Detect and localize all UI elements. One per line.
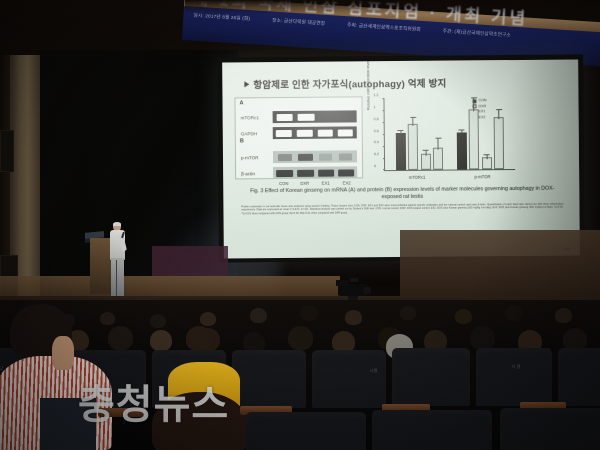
audience-head [108, 326, 133, 350]
seat [558, 348, 600, 406]
seat [392, 348, 470, 406]
blot-lane-labels: CON DXR EX1 EX2 [273, 180, 357, 186]
bar-ex2 [494, 117, 504, 169]
bar-con [396, 133, 406, 170]
slide-title: 항암제로 인한 자가포식(autophagy) 억제 방지 [253, 76, 446, 92]
y-tick: 0.6 [374, 129, 379, 133]
seat: 다 열 [476, 348, 552, 406]
audience-head [150, 314, 166, 328]
bar-group-pmtor [456, 98, 504, 169]
camera-microphone-icon [350, 278, 358, 282]
bar-chart: Relative mRNA/protein level CON DXR EX1 … [366, 95, 517, 182]
panel-a-label: A [239, 100, 243, 106]
x-category-mtorc1: mTORc1 [409, 175, 426, 180]
blot-row: β-actin [241, 164, 358, 181]
audience-head [455, 309, 472, 324]
panel-b-label: B [240, 138, 244, 144]
blot-row: mTORc1 [241, 108, 358, 125]
news-watermark: 충청뉴스 [78, 372, 253, 428]
chart-y-axis-label: Relative mRNA/protein level [365, 59, 370, 110]
bar-dxr [408, 124, 418, 170]
audience-head [400, 306, 416, 320]
blot-label-gapdh: GAPDH [241, 131, 273, 136]
presenter-at-podium [110, 222, 126, 296]
audience-head [100, 312, 115, 325]
presenter-leg-gap [116, 260, 117, 296]
bar-group-mtorc1 [395, 99, 443, 170]
bar-con [457, 133, 467, 170]
blot-bands-mtorc1 [273, 110, 357, 123]
blot-bands-gapdh [273, 126, 357, 139]
western-blot-panel: A B mTORc1 GAPDH [234, 96, 363, 179]
auditorium-photo: 제 1회 국제 인삼 심포지엄 · 개최 기념 일시: 2017년 8월 26일… [0, 0, 600, 450]
chart-x-categories: mTORc1 p-mTOR [384, 174, 515, 180]
seat-number: 다 열 [512, 364, 520, 370]
lane-label-ex2: EX2 [336, 180, 357, 185]
audience-head [470, 326, 495, 350]
banner-top-shadow [185, 0, 600, 14]
y-tick: 0.2 [374, 152, 379, 156]
bar-ex1 [421, 154, 431, 170]
blot-label-bactin: β-actin [241, 171, 273, 176]
stage-side-panel [152, 246, 228, 276]
audience-head [200, 312, 216, 326]
y-tick: 0 [374, 164, 376, 168]
lane-label-dxr: DXR [294, 181, 315, 186]
seat [372, 410, 492, 450]
camera-viewfinder [336, 280, 348, 286]
figure-fineprint: Protein expression in rat testicular tis… [241, 203, 563, 216]
seat-number: 2 [0, 366, 3, 372]
y-tick: 1.2 [373, 93, 378, 97]
foreground-arm [52, 336, 74, 370]
triangle-bullet-icon [244, 81, 249, 87]
blot-bands-bactin [273, 166, 357, 179]
projected-slide: 항암제로 인한 자가포식(autophagy) 억제 방지 A B mTORc1 [222, 59, 580, 258]
camera-lens-icon [363, 287, 371, 294]
lane-label-con: CON [273, 181, 294, 186]
bar-ex2 [433, 148, 443, 170]
wall-speaker-upper [0, 130, 14, 172]
seat [500, 408, 600, 450]
podium [90, 238, 112, 294]
blot-row: GAPDH [241, 124, 358, 141]
audience-head [250, 308, 267, 323]
y-tick: 1 [374, 105, 376, 109]
blot-label-mtorc1: mTORc1 [241, 115, 273, 120]
lane-label-ex1: EX1 [315, 181, 336, 186]
blot-label-pmtor: p-mTOR [241, 155, 273, 160]
seat: 나열 [312, 350, 386, 408]
presenter-legs [111, 258, 124, 296]
figure-caption: Fig. 3 Effect of Korean ginseng on mRNA … [243, 186, 561, 203]
audience-head [505, 305, 523, 321]
audience-head [186, 326, 212, 351]
seat-number: 나열 [370, 368, 377, 374]
audience-head [300, 305, 318, 321]
y-tick: 0.4 [374, 141, 379, 145]
blot-row: p-mTOR [241, 148, 358, 165]
audience-head [555, 308, 572, 323]
bar-ex1 [482, 157, 492, 169]
bar-dxr [469, 109, 480, 169]
blot-bands-pmtor [273, 150, 357, 163]
audience-head [288, 326, 313, 350]
seat [246, 412, 366, 450]
y-tick: 0.8 [374, 117, 379, 121]
x-category-pmtor: p-mTOR [475, 174, 491, 179]
audience-head [345, 310, 362, 325]
slide-title-row: 항암제로 인한 자가포식(autophagy) 억제 방지 [244, 75, 570, 92]
audience-head [150, 330, 172, 351]
chart-plot-area: 0 0.2 0.4 0.6 0.8 1 1.2 [383, 98, 515, 171]
presenter-hair [113, 222, 121, 226]
chart-bars [384, 98, 515, 170]
figure-row: A B mTORc1 GAPDH [234, 95, 571, 184]
